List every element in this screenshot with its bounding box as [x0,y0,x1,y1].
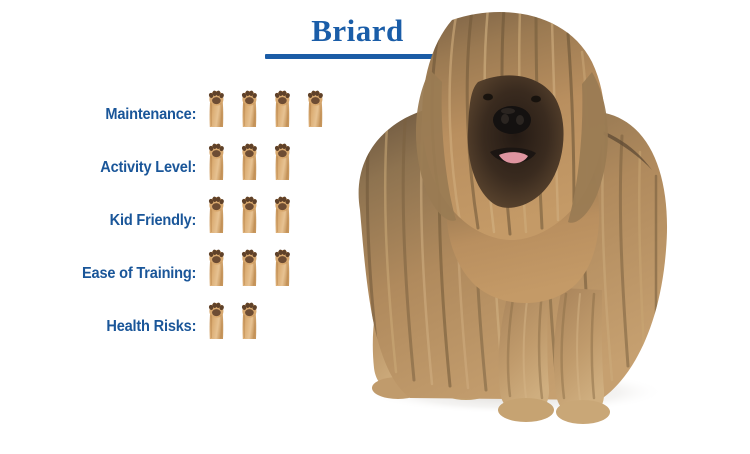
paw-icon [205,193,228,234]
paw-icon [205,87,228,128]
paw-icon [205,140,228,181]
paw-icon [271,246,294,287]
paw-icon [238,299,261,340]
paw-icon [238,87,261,128]
rating-label: Kid Friendly: [12,212,200,230]
paw-icon [238,193,261,234]
paw-strip-activity-level [205,140,304,181]
rating-label: Maintenance: [12,106,200,124]
dog-eye-right [531,96,541,103]
paw-icon [271,87,294,128]
rating-label: Ease of Training: [12,265,200,283]
front-paw-left [498,398,554,422]
paw-strip-kid-friendly [205,193,304,234]
briard-dog-illustration [300,0,750,454]
paw-strip-health-risks [205,299,271,340]
rating-label: Activity Level: [12,159,200,177]
front-paw-right [556,400,610,424]
rating-row-activity-level: Activity Level: [0,141,340,194]
paw-icon [205,299,228,340]
paw-icon [271,193,294,234]
ratings-list: Maintenance: [0,88,340,353]
rating-row-health-risks: Health Risks: [0,300,340,353]
rating-row-kid-friendly: Kid Friendly: [0,194,340,247]
paw-strip-ease-of-training [205,246,304,287]
rating-row-ease-of-training: Ease of Training: [0,247,340,300]
dog-head [416,8,608,240]
paw-icon [271,140,294,181]
rating-row-maintenance: Maintenance: [0,88,340,141]
breed-card: Briard Maintenance: [0,0,750,454]
dog-eye-left [483,94,493,101]
paw-icon [238,140,261,181]
paw-icon [238,246,261,287]
rating-label: Health Risks: [12,318,200,336]
dog-photo [300,0,750,454]
paw-icon [205,246,228,287]
